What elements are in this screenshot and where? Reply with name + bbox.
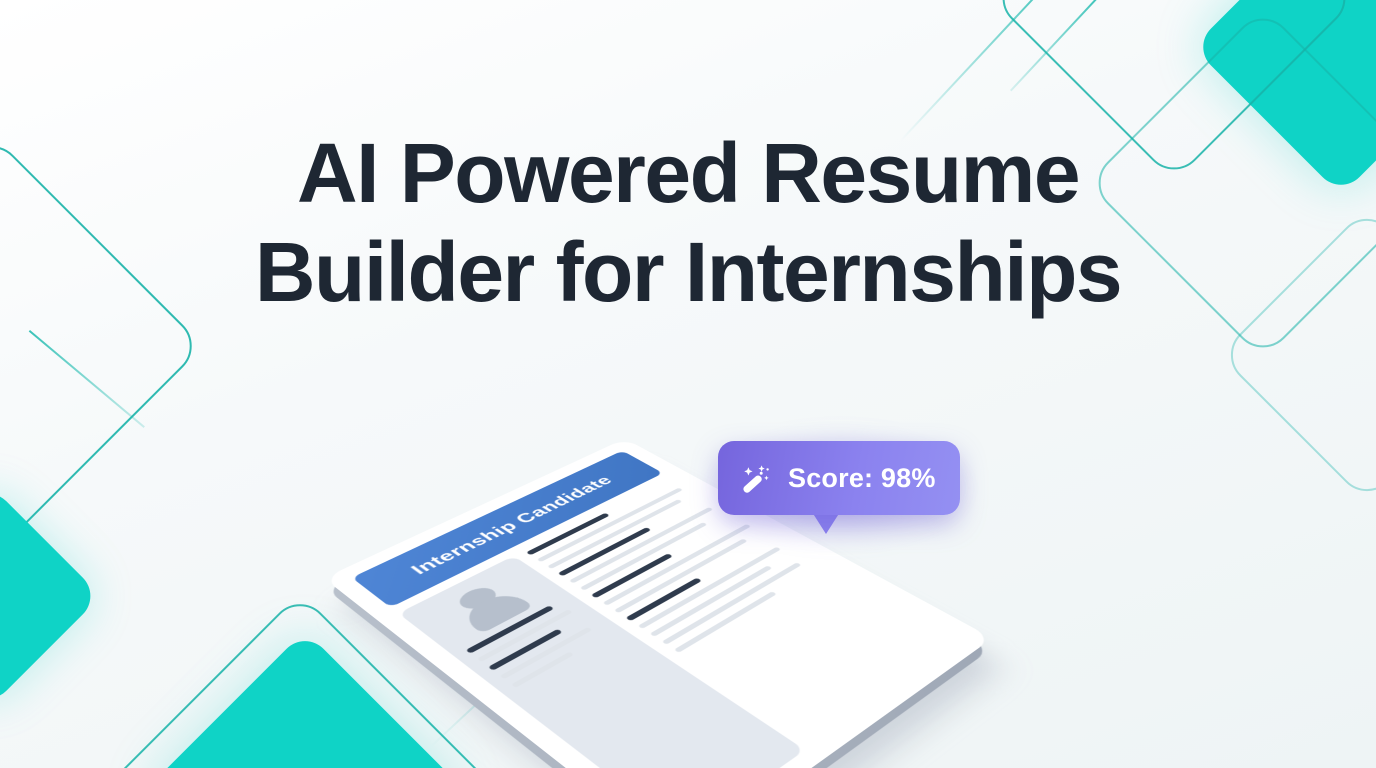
- score-badge-label: Score: 98%: [788, 463, 936, 494]
- teal-square-left: [0, 483, 101, 709]
- resume-illustration: Internship Candidate: [430, 368, 970, 708]
- page-title: AI Powered Resume Builder for Internship…: [0, 124, 1376, 322]
- magic-wand-icon: [738, 460, 774, 496]
- diagonal-line-icon-2: [1010, 0, 1107, 91]
- score-badge: Score: 98%: [718, 441, 960, 515]
- hero-banner: AI Powered Resume Builder for Internship…: [0, 0, 1376, 768]
- page-title-line-1: AI Powered Resume: [0, 124, 1376, 223]
- resume-sidebar-line: [511, 652, 574, 688]
- page-title-line-2: Builder for Internships: [0, 223, 1376, 322]
- diagonal-line-icon-1: [900, 0, 1058, 141]
- diagonal-line-icon-3: [29, 330, 145, 428]
- score-badge-tail: [812, 512, 840, 534]
